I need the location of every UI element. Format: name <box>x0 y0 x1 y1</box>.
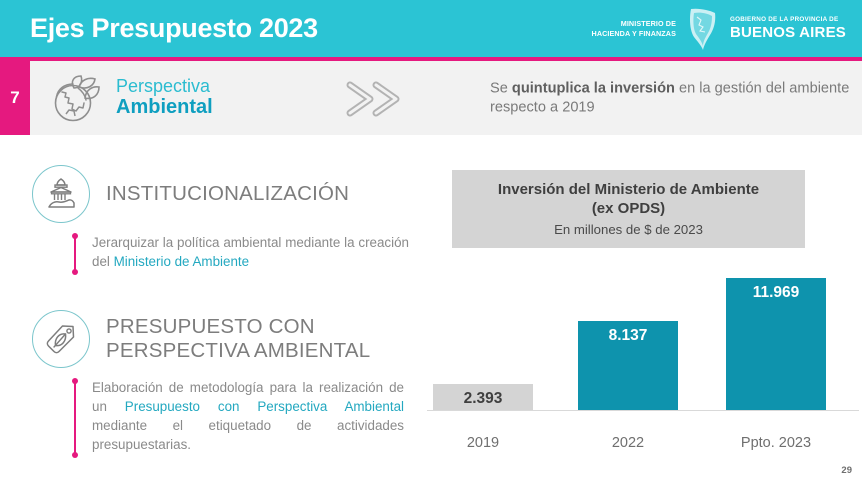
table-row[interactable]: 8.137 <box>578 321 678 411</box>
feature-description-highlight: Presupuesto con Perspectiva Ambiental <box>125 399 404 414</box>
page-number: 29 <box>841 465 852 476</box>
bullet-dot-top <box>72 233 78 239</box>
ministry-line-1: MINISTERIO DE <box>621 19 676 28</box>
government-line-small: GOBIERNO DE LA PROVINCIA DE <box>730 17 846 23</box>
bar-value-label: 8.137 <box>578 327 678 345</box>
chart-title-line-2: (ex OPDS) <box>592 200 665 217</box>
bar-category-label: 2019 <box>433 435 533 451</box>
bar-chart-plot: 2.393 2019 8.137 2022 11.969 Ppto. 2023 <box>425 248 862 465</box>
axis-banner: 7 Perspectiva Ambiental <box>0 61 862 135</box>
bar-value-label: 2.393 <box>433 390 533 408</box>
header-branding: MINISTERIO DE HACIENDA Y FINANZAS GOBIER… <box>592 0 846 57</box>
table-row[interactable]: 2.393 <box>433 384 533 410</box>
chart-subtitle: En millones de $ de 2023 <box>554 222 703 237</box>
axis-statement: Se quintuplica la inversión en la gestió… <box>490 79 860 116</box>
bullet-line <box>74 382 76 454</box>
feature-header: INSTITUCIONALIZACIÓN <box>32 165 409 223</box>
government-name: GOBIERNO DE LA PROVINCIA DE BUENOS AIRES <box>730 17 846 40</box>
axis-number: 7 <box>10 88 19 108</box>
axis-statement-bold: quintuplica la inversión <box>512 80 675 96</box>
bullet-dot-top <box>72 378 78 384</box>
feature-title: INSTITUCIONALIZACIÓN <box>106 182 349 206</box>
chart-title: Inversión del Ministerio de Ambiente (ex… <box>498 181 759 219</box>
ministry-name: MINISTERIO DE HACIENDA Y FINANZAS <box>592 19 676 38</box>
provincial-crest-icon <box>685 7 721 51</box>
ministry-line-2: HACIENDA Y FINANZAS <box>592 29 676 38</box>
axis-label-line-2: Ambiental <box>116 97 213 119</box>
axis-banner-body: Perspectiva Ambiental Se quintuplica la … <box>30 61 862 135</box>
chart-title-line-1: Inversión del Ministerio de Ambiente <box>498 181 759 198</box>
axis-statement-prefix: Se <box>490 80 512 96</box>
chart-axis-line <box>427 410 859 411</box>
axis-label: Perspectiva Ambiental <box>116 77 213 118</box>
feature-title: PRESUPUESTO CON PERSPECTIVA AMBIENTAL <box>106 315 370 363</box>
slide-root: Ejes Presupuesto 2023 MINISTERIO DE HACI… <box>0 0 862 480</box>
slide-header: Ejes Presupuesto 2023 MINISTERIO DE HACI… <box>0 0 862 57</box>
feature-institucionalizacion: INSTITUCIONALIZACIÓN Jerarquizar la polí… <box>32 165 409 271</box>
feature-description-highlight: Ministerio de Ambiente <box>114 254 249 269</box>
axis-number-badge: 7 <box>0 61 30 135</box>
feature-description: Jerarquizar la política ambiental median… <box>74 233 409 271</box>
bullet-dot-bottom <box>72 452 78 458</box>
government-line-large: BUENOS AIRES <box>730 25 846 40</box>
features-column: INSTITUCIONALIZACIÓN Jerarquizar la polí… <box>0 145 420 475</box>
axis-label-line-1: Perspectiva <box>116 77 213 96</box>
globe-leaf-icon <box>48 72 108 124</box>
capitol-building-icon <box>44 177 78 211</box>
feature-header: PRESUPUESTO CON PERSPECTIVA AMBIENTAL <box>32 310 404 368</box>
feature-title-line-2: PERSPECTIVA AMBIENTAL <box>106 339 370 362</box>
feature-icon-circle <box>32 165 90 223</box>
double-chevron-right-icon <box>342 77 416 121</box>
table-row[interactable]: 11.969 <box>726 278 826 410</box>
feature-description-suffix: mediante el etiquetado de actividades pr… <box>92 418 404 452</box>
feature-description: Elaboración de metodología para la reali… <box>74 378 404 454</box>
chart-title-box: Inversión del Ministerio de Ambiente (ex… <box>452 170 805 248</box>
bullet-dot-bottom <box>72 269 78 275</box>
bar-category-label: 2022 <box>578 435 678 451</box>
feature-presupuesto-ambiental: PRESUPUESTO CON PERSPECTIVA AMBIENTAL El… <box>32 310 404 454</box>
bar-value-label: 11.969 <box>726 284 826 302</box>
chart-panel: Inversión del Ministerio de Ambiente (ex… <box>425 145 862 465</box>
feature-title-line-1: PRESUPUESTO CON <box>106 315 315 338</box>
feature-icon-circle <box>32 310 90 368</box>
bar-category-label: Ppto. 2023 <box>726 435 826 451</box>
page-title: Ejes Presupuesto 2023 <box>30 13 318 44</box>
tag-leaf-icon <box>44 322 78 356</box>
bullet-line <box>74 237 76 271</box>
